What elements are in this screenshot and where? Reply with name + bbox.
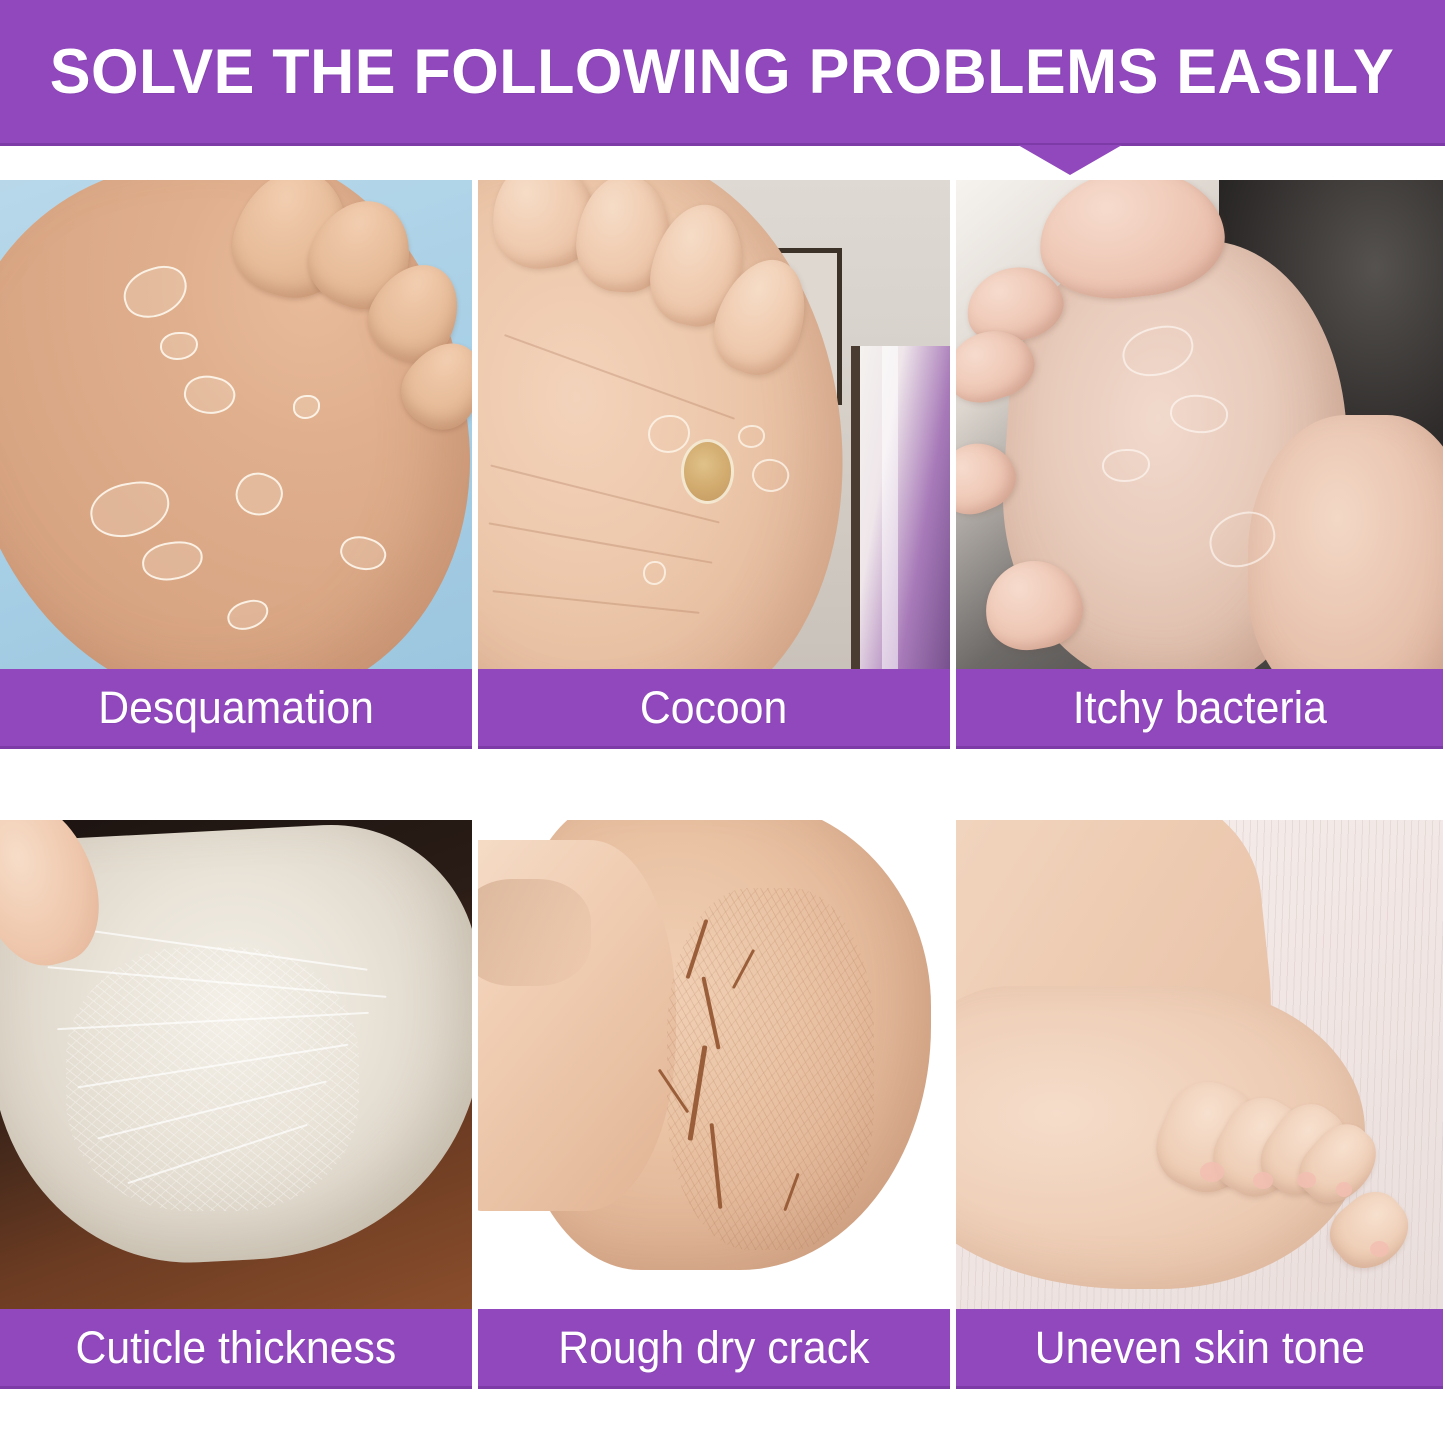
problem-label: Uneven skin tone <box>1034 1325 1364 1370</box>
photo-cuticle-thickness <box>0 820 472 1309</box>
header-banner: SOLVE THE FOLLOWING PROBLEMS EASILY <box>0 0 1445 146</box>
poster: SOLVE THE FOLLOWING PROBLEMS EASILY <box>0 0 1445 1445</box>
problem-card-rough-dry-crack[interactable]: Rough dry crack <box>478 820 950 1389</box>
problem-label: Cocoon <box>640 685 787 730</box>
caption-bar-desquamation: Desquamation <box>0 669 472 749</box>
caption-bar-cocoon: Cocoon <box>478 669 950 749</box>
problem-label: Rough dry crack <box>558 1325 869 1370</box>
problem-card-uneven-skin-tone[interactable]: Uneven skin tone <box>956 820 1443 1389</box>
problem-label: Cuticle thickness <box>76 1325 397 1370</box>
photo-uneven-skin-tone <box>956 820 1443 1309</box>
problem-card-itchy-bacteria[interactable]: Itchy bacteria <box>956 180 1443 749</box>
problems-row-1: Desquamation <box>0 180 1445 749</box>
photo-rough-dry-crack <box>478 820 950 1309</box>
caption-bar-uneven-skin-tone: Uneven skin tone <box>956 1309 1443 1389</box>
problem-label: Itchy bacteria <box>1072 685 1326 730</box>
problem-card-cocoon[interactable]: Cocoon <box>478 180 950 749</box>
caption-bar-cuticle-thickness: Cuticle thickness <box>0 1309 472 1389</box>
problem-label: Desquamation <box>98 685 374 730</box>
problem-card-desquamation[interactable]: Desquamation <box>0 180 472 749</box>
photo-itchy-bacteria <box>956 180 1443 669</box>
photo-cocoon <box>478 180 950 669</box>
page-title: SOLVE THE FOLLOWING PROBLEMS EASILY <box>50 41 1395 104</box>
problem-card-cuticle-thickness[interactable]: Cuticle thickness <box>0 820 472 1389</box>
caption-bar-rough-dry-crack: Rough dry crack <box>478 1309 950 1389</box>
banner-notch-arrow-icon <box>1018 145 1122 175</box>
photo-desquamation <box>0 180 472 669</box>
problems-row-2: Cuticle thickness <box>0 820 1445 1389</box>
caption-bar-itchy-bacteria: Itchy bacteria <box>956 669 1443 749</box>
problems-grid: Desquamation <box>0 180 1445 1389</box>
